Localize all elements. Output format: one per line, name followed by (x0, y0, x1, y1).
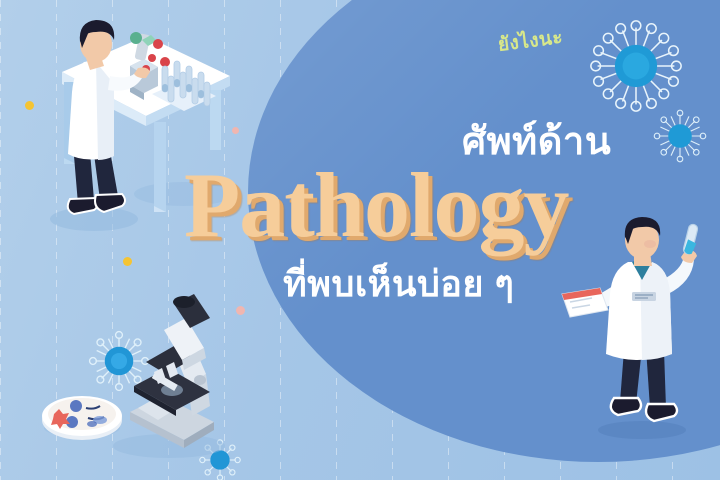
dot-yellow-mid (123, 257, 132, 266)
doctor-with-clipboard-illustration (576, 218, 716, 438)
microscope (130, 294, 214, 448)
trousers (74, 152, 94, 204)
pathology-poster: ยังไงนะ ศัพท์ด้าน Pathology ที่พบเห็นบ่อ… (0, 0, 720, 480)
shoe-right (95, 194, 125, 212)
microscope-and-petri-dish-illustration (34, 300, 264, 470)
page-title: Pathology (184, 152, 569, 258)
name-badge (632, 292, 656, 301)
petri-dish (42, 396, 122, 440)
dot-yellow-left (25, 101, 34, 110)
subtitle-bottom-text: ที่พบเห็นบ่อย ๆ (283, 255, 514, 312)
virus-large-top-right-icon (588, 18, 684, 114)
shoe-right (646, 404, 677, 421)
virus-small-right-icon (652, 108, 708, 164)
shoe-left (611, 398, 641, 415)
test-tube (682, 223, 698, 255)
